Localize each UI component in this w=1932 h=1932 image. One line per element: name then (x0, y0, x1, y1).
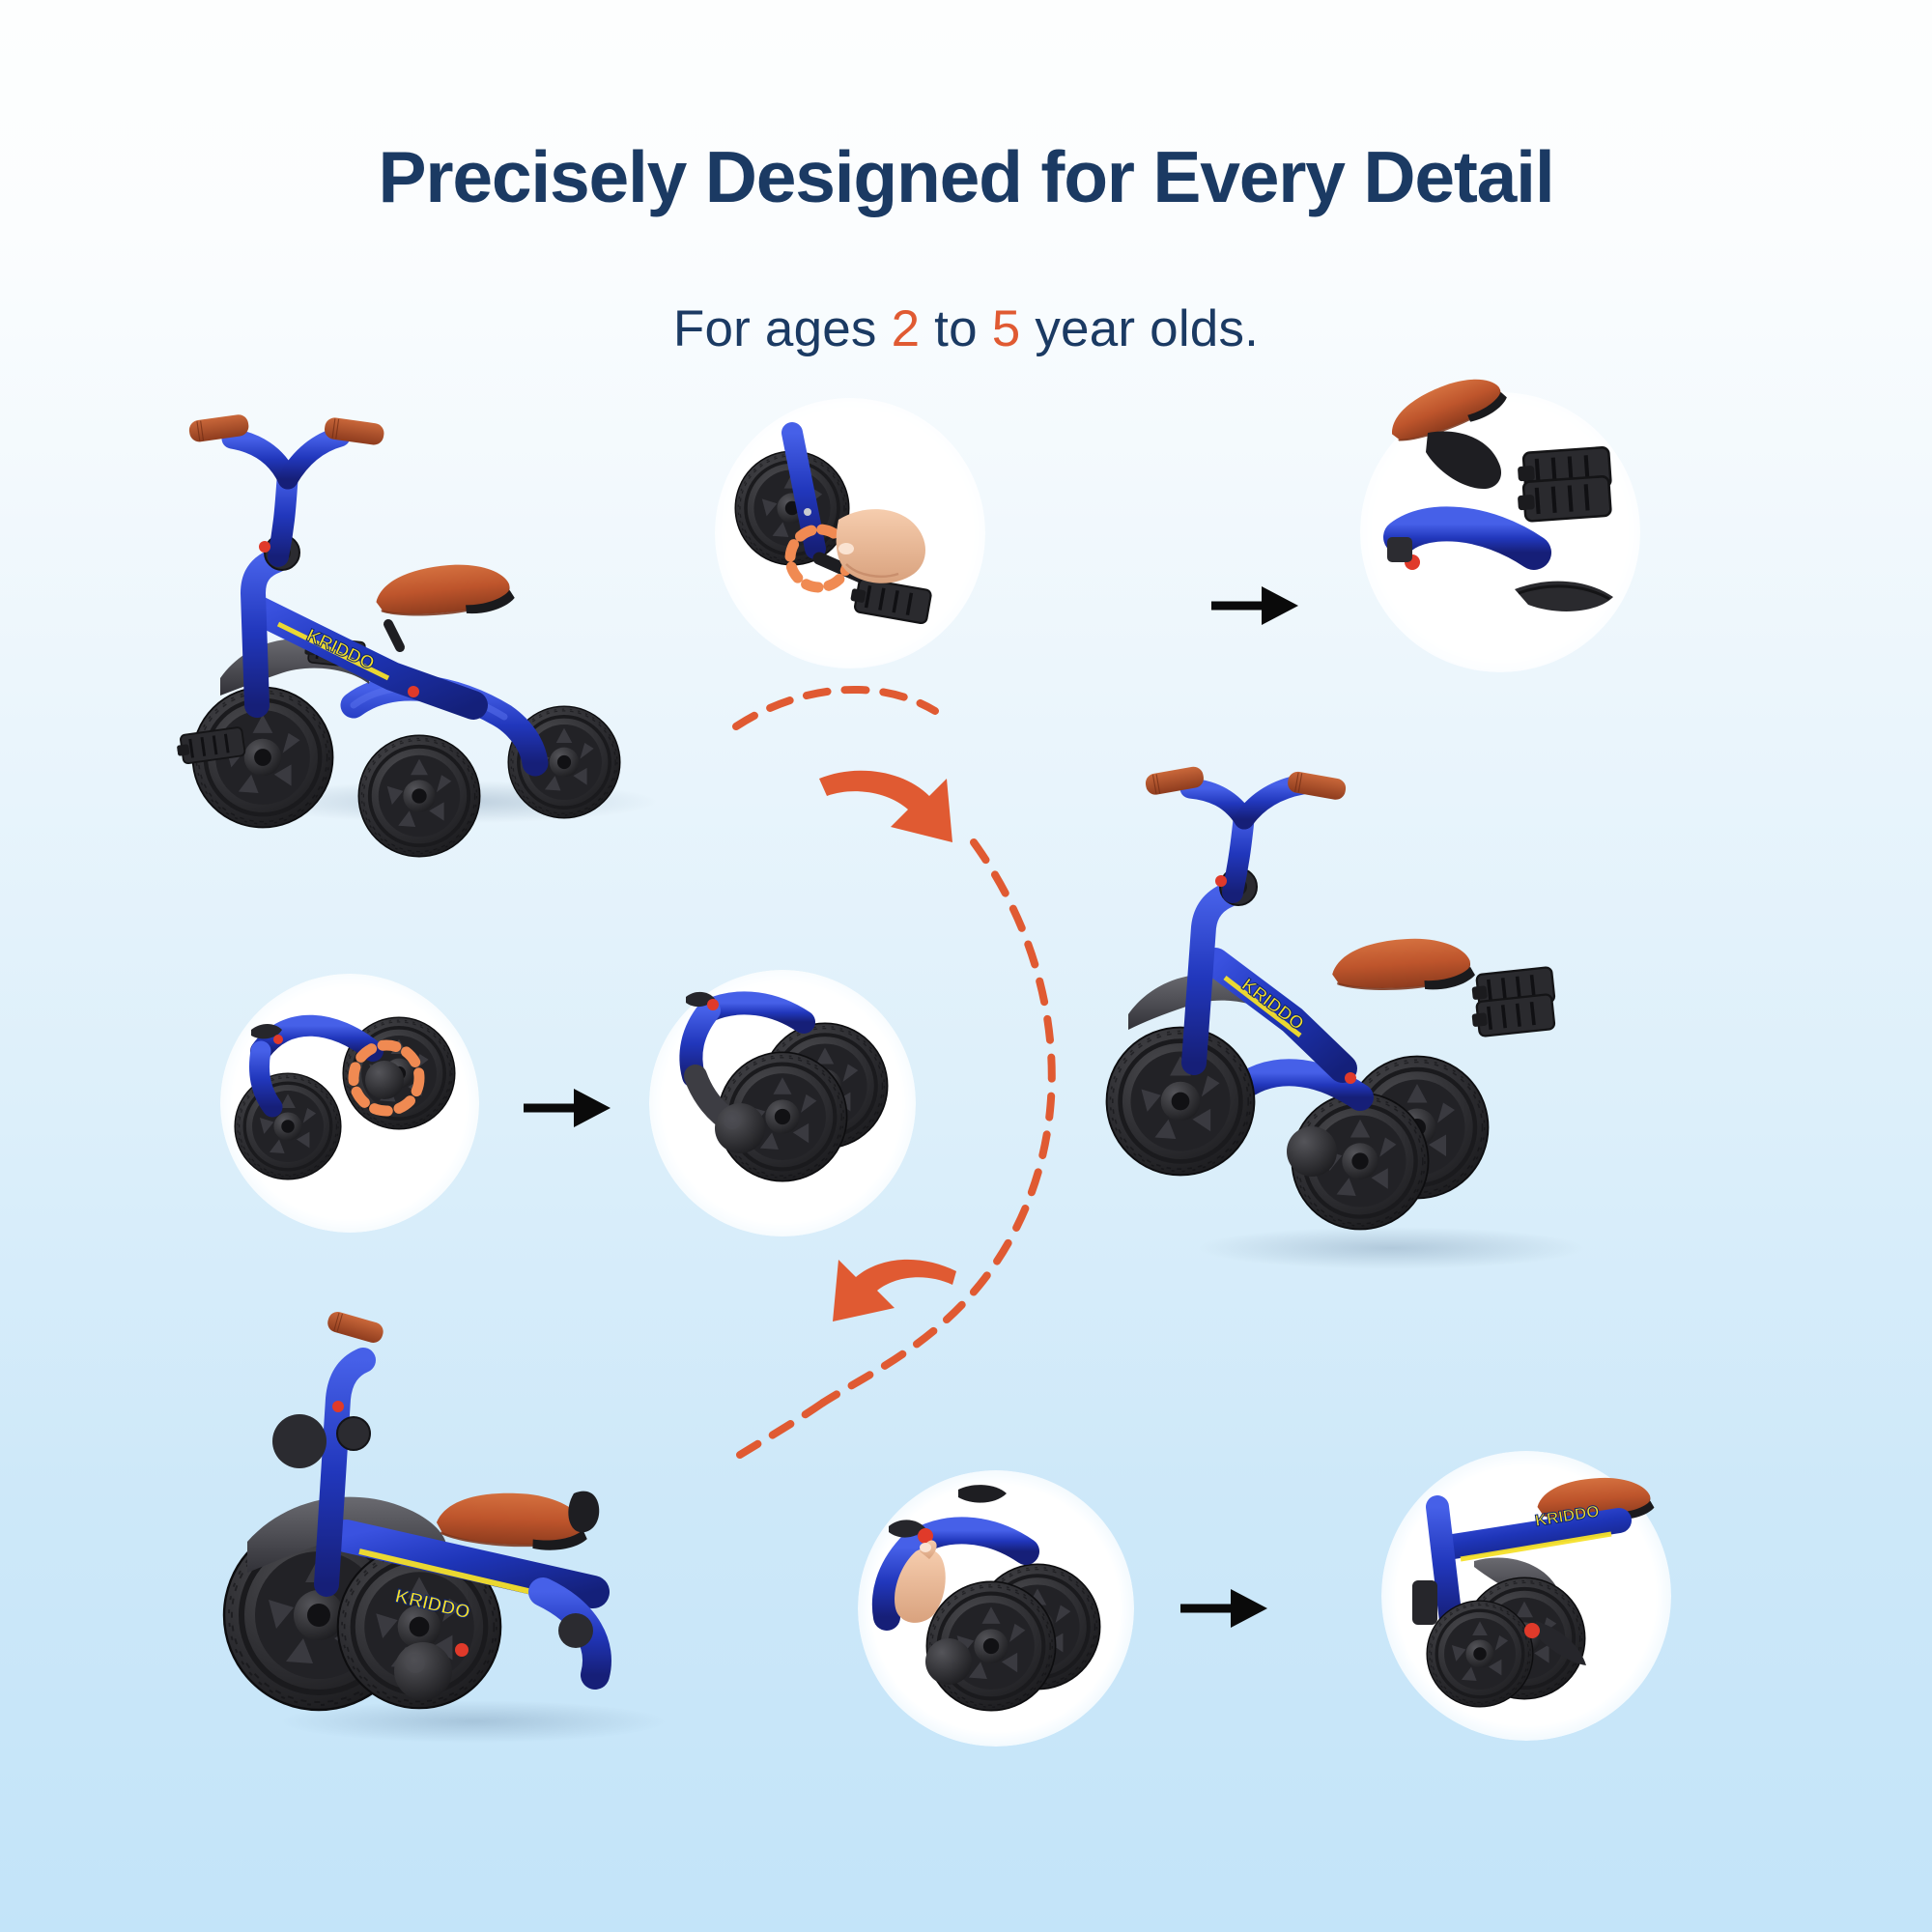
step-arrow-3 (1179, 1584, 1271, 1633)
step-arrow-2 (522, 1084, 614, 1132)
step-arrow-1 (1209, 582, 1302, 630)
step-frame-fold-after: KRIDDO (1391, 1459, 1669, 1737)
flow-arrow-1 (819, 771, 952, 842)
step-rear-wheels-fold-after (657, 976, 914, 1233)
flow-segment-3 (740, 1403, 823, 1455)
product-view-folded-compact: KRIDDO (203, 1285, 744, 1748)
product-view-assembled-right: KRIDDO (1101, 773, 1642, 1275)
product-view-unfolded-full: KRIDDO (164, 386, 705, 831)
step-frame-fold-before (866, 1476, 1132, 1743)
infographic-stage: KRIDDO (0, 0, 1932, 1932)
step-pedal-fold-before (723, 404, 983, 665)
step-pedal-fold-after (1370, 400, 1640, 670)
brand-logo-decal: KRIDDO (1237, 975, 1307, 1035)
flow-segment-1 (736, 690, 935, 726)
flow-arrow-2 (833, 1260, 956, 1321)
step-rear-wheels-fold-before (228, 980, 477, 1229)
